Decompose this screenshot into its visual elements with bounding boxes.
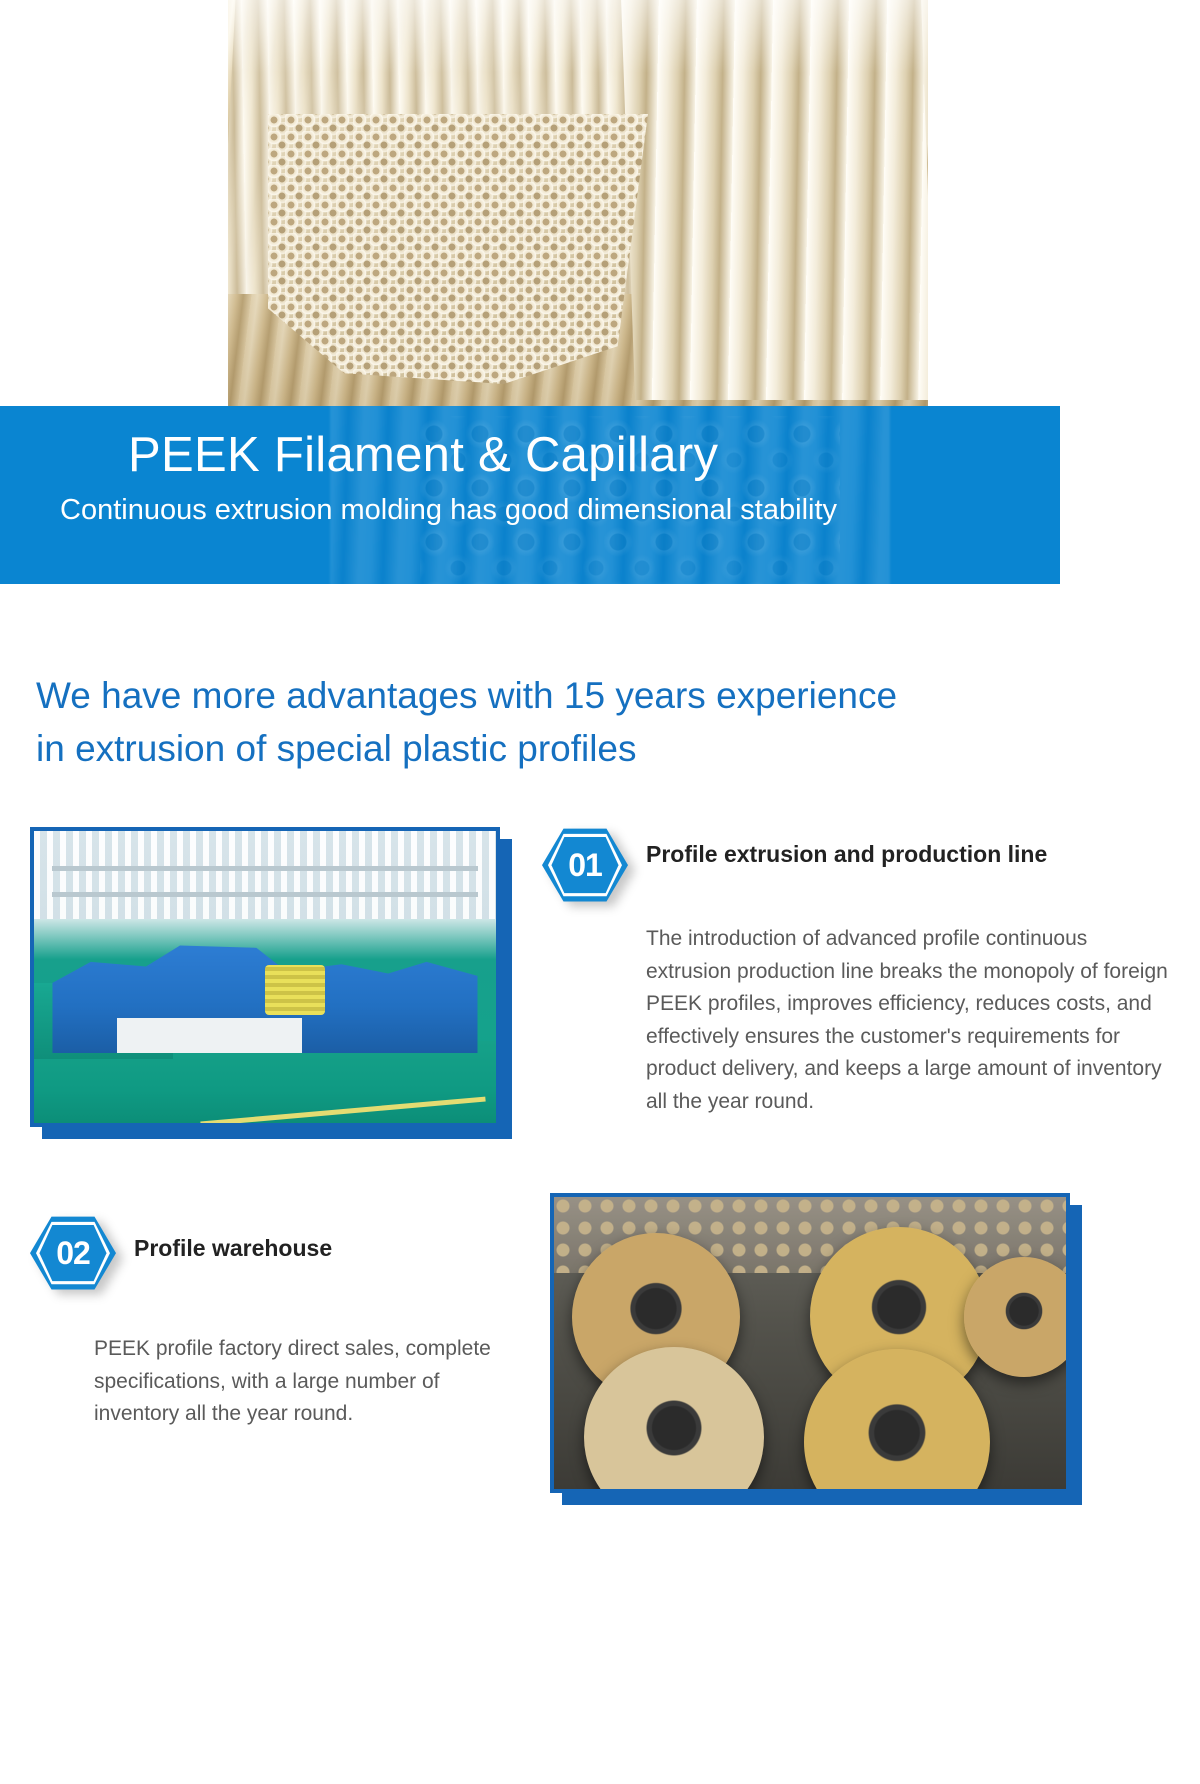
product-detail-page: PEEK Filament & Capillary Continuous ext… [0, 0, 1200, 1784]
banner-subtitle: Continuous extrusion molding has good di… [60, 492, 1060, 530]
feature-01-body: The introduction of advanced profile con… [646, 923, 1170, 1118]
feature-row-01: 01 Profile extrusion and production line… [30, 827, 1170, 1127]
headline-line-1: We have more advantages with 15 years ex… [36, 670, 1030, 723]
headline-line-2: in extrusion of special plastic profiles [36, 723, 1030, 776]
feature-01-text-column: 01 Profile extrusion and production line… [530, 827, 1170, 1127]
section-headline: We have more advantages with 15 years ex… [0, 584, 1060, 775]
title-banner: PEEK Filament & Capillary Continuous ext… [0, 406, 1060, 584]
feature-02-image-column [550, 1193, 1170, 1493]
feature-01-title: Profile extrusion and production line [646, 827, 1047, 871]
feature-02-number: 02 [30, 1215, 116, 1291]
feature-02-image-frame [550, 1193, 1070, 1493]
banner-title: PEEK Filament & Capillary [128, 426, 1060, 486]
feature-01-number: 01 [542, 827, 628, 903]
features-section: 01 Profile extrusion and production line… [0, 827, 1200, 1493]
feature-01-header: 01 Profile extrusion and production line [542, 827, 1170, 903]
feature-02-number-badge: 02 [30, 1215, 116, 1291]
feature-02-text-column: 02 Profile warehouse PEEK profile factor… [30, 1193, 550, 1493]
feature-02-title: Profile warehouse [134, 1215, 332, 1265]
feature-02-header: 02 Profile warehouse [30, 1215, 550, 1291]
hero-edge-fade [0, 0, 1200, 406]
hero-product-image [0, 0, 1200, 406]
ceiling-texture [34, 831, 496, 919]
spool [964, 1257, 1070, 1377]
ceiling-beam [52, 866, 477, 871]
feature-01-image-column [30, 827, 530, 1127]
factory-production-line-photo [34, 831, 496, 1123]
filament-spools-photo [554, 1197, 1066, 1489]
feature-01-number-badge: 01 [542, 827, 628, 903]
feature-row-02: 02 Profile warehouse PEEK profile factor… [30, 1193, 1170, 1493]
feature-02-body: PEEK profile factory direct sales, compl… [94, 1333, 494, 1431]
yellow-coil [265, 965, 325, 1015]
white-platform [117, 1018, 302, 1053]
ceiling-beam [52, 892, 477, 897]
feature-01-image-frame [30, 827, 500, 1127]
